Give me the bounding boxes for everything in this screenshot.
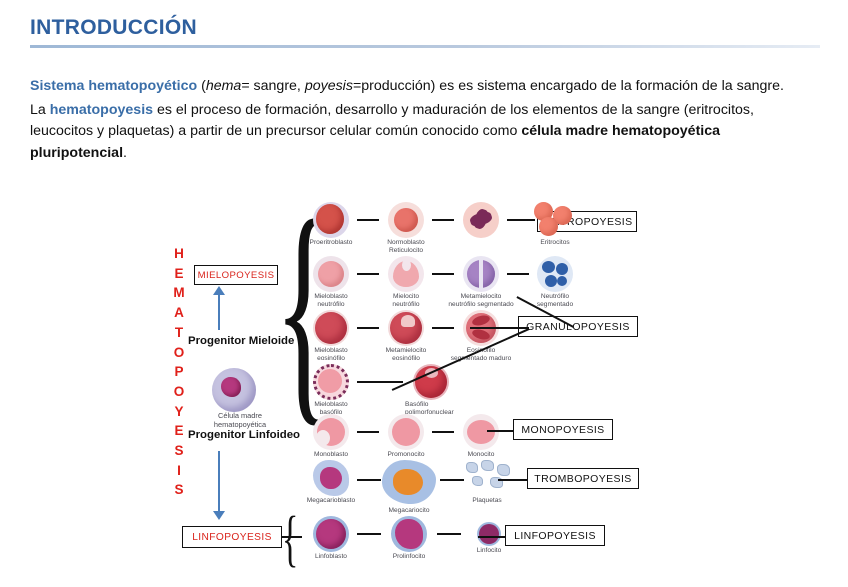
monoblasto-art xyxy=(313,414,349,450)
hematopoyesis-letter-10: S xyxy=(168,441,190,461)
term-hematopoyesis: hematopoyesis xyxy=(50,102,153,118)
promonocito-art xyxy=(388,414,424,450)
hematopoyesis-letter-8: Y xyxy=(168,402,190,422)
p1-text-b: ( xyxy=(197,78,206,94)
cell-label: Mieloblasto neutrófilo xyxy=(300,293,362,309)
arrow-up-shaft xyxy=(218,292,220,330)
cell-prolinfocito: Prolinfocito xyxy=(378,516,440,561)
eritrocitos-art xyxy=(532,202,578,238)
cell-label: Megacarioblasto xyxy=(300,497,362,505)
cell-neutrofilo-segmentado: Neutrófilo segmentado xyxy=(524,256,586,309)
cell-label: Megacariocito xyxy=(378,507,440,515)
arrow-up-icon xyxy=(213,286,225,295)
plaquetas-art xyxy=(464,460,518,496)
connector-to-granulopoyesis xyxy=(470,327,518,329)
mieloblasto-neutrofilo-art xyxy=(313,256,349,292)
p2-text-a: La xyxy=(30,102,50,118)
cell-label: Proeritroblasto xyxy=(300,239,362,247)
arrow-down-shaft xyxy=(218,451,220,513)
cell-normoblasto: Normoblasto Reticulocito xyxy=(375,202,437,255)
cell-mieloblasto-basofilo: Mieloblasto basófilo xyxy=(300,364,362,417)
box-linfopoyesis-left[interactable]: LINFOPOYESIS xyxy=(182,526,282,548)
cell-mieloblasto-neutrofilo: Mieloblasto neutrófilo xyxy=(300,256,362,309)
connector-to-monopoyesis xyxy=(487,430,513,432)
p1-text-c: = sangre, xyxy=(241,78,305,94)
p1-text-d: =producción) es es sistema encargado de … xyxy=(353,78,784,94)
linfoblasto-art xyxy=(313,516,349,552)
title-divider xyxy=(30,45,820,48)
connector xyxy=(357,381,403,383)
megacarioblasto-art xyxy=(313,460,349,496)
neutrofilo-segmentado-art xyxy=(537,256,573,292)
normoblasto-art xyxy=(388,202,424,238)
hematopoyesis-letter-11: I xyxy=(168,461,190,481)
cell-monocito: Monocito xyxy=(450,414,512,459)
cell-plaquetas: Plaquetas xyxy=(460,460,522,505)
hematopoyesis-letter-6: P xyxy=(168,362,190,382)
cell-label: Linfocito xyxy=(458,547,520,555)
term-poyesis: poyesis xyxy=(305,78,353,94)
intro-body: Sistema hematopoyético (hema= sangre, po… xyxy=(30,76,820,164)
linfocito-art xyxy=(477,522,501,546)
cell-label: Mieloblasto eosinófilo xyxy=(300,347,362,363)
cell-label: Monoblasto xyxy=(300,451,362,459)
paragraph-1: Sistema hematopoyético (hema= sangre, po… xyxy=(30,76,820,98)
cell-label: Monocito xyxy=(450,451,512,459)
cell-megacariocito: Megacariocito xyxy=(378,460,440,515)
cell-promonocito: Promonocito xyxy=(375,414,437,459)
connector-to-trombopoyesis xyxy=(498,479,527,481)
cell-eosinofilo-maduro: Eosinófilo segmentado maduro xyxy=(450,310,512,363)
cell-label: Eritrocitos xyxy=(524,239,586,247)
mieloblasto-eosinofilo-art xyxy=(313,310,349,346)
box-granulopoyesis[interactable]: GRANULOPOYESIS xyxy=(518,316,638,337)
arrow-down-icon xyxy=(213,511,225,520)
box-linfopoyesis-right[interactable]: LINFOPOYESIS xyxy=(505,525,605,546)
basofilo-polimorfonuclear-art xyxy=(413,364,449,400)
term-sistema-hematopoyetico: Sistema hematopoyético xyxy=(30,78,197,94)
box-monopoyesis[interactable]: MONOPOYESIS xyxy=(513,419,613,440)
reticulocito-art xyxy=(463,202,499,238)
metamielocito-eosinofilo-art xyxy=(388,310,424,346)
cell-megacarioblasto: Megacarioblasto xyxy=(300,460,362,505)
cell-metamielocito-eosinofilo: Metamielocito eosinófilo xyxy=(375,310,437,363)
megacariocito-art xyxy=(382,460,436,504)
hematopoyesis-letter-3: A xyxy=(168,303,190,323)
hematopoyesis-letter-2: M xyxy=(168,283,190,303)
proeritroblasto-art xyxy=(313,202,349,238)
mielocito-neutrofilo-art xyxy=(388,256,424,292)
hematopoyesis-letter-12: S xyxy=(168,480,190,500)
cell-eritrocitos: Eritrocitos xyxy=(524,202,586,247)
hematopoyesis-letter-9: E xyxy=(168,421,190,441)
cell-label: Mielocito neutrófilo xyxy=(366,293,446,309)
monocito-art xyxy=(463,414,499,450)
connector-to-eritropoyesis xyxy=(507,219,535,221)
hematopoyesis-letter-7: O xyxy=(168,382,190,402)
cell-proeritroblasto: Proeritroblasto xyxy=(300,202,362,247)
brace-linfoide: { xyxy=(282,508,298,570)
hematopoyesis-diagram: HEMATOPOYESIS Célula madre hematopoyétic… xyxy=(0,196,848,587)
cell-label: Promonocito xyxy=(375,451,437,459)
hematopoyesis-letter-0: H xyxy=(168,244,190,264)
stem-cell-art xyxy=(212,368,256,412)
cell-mieloblasto-eosinofilo: Mieloblasto eosinófilo xyxy=(300,310,362,363)
connector-to-linfopoyesis-right xyxy=(478,536,505,538)
cell-label: Metamielocito neutrófilo segmentado xyxy=(435,293,527,309)
hematopoyesis-letter-4: T xyxy=(168,323,190,343)
cell-label: Prolinfocito xyxy=(378,553,440,561)
mieloblasto-basofilo-art xyxy=(313,364,349,400)
cell-label: Linfoblasto xyxy=(300,553,362,561)
cell-metamielocito-neutrofilo: Metamielocito neutrófilo segmentado xyxy=(450,256,512,309)
term-hema: hema xyxy=(206,78,242,94)
metamielocito-neutrofilo-art xyxy=(463,256,499,292)
box-trombopoyesis[interactable]: TROMBOPOYESIS xyxy=(527,468,639,489)
cell-reticulocito xyxy=(450,202,512,238)
prolinfocito-art xyxy=(391,516,427,552)
paragraph-2: La hematopoyesis es el proceso de formac… xyxy=(30,100,820,165)
cell-label: Plaquetas xyxy=(452,497,522,505)
hematopoyesis-letter-1: E xyxy=(168,264,190,284)
p2-text-e: . xyxy=(123,145,127,161)
cell-mielocito-neutrofilo: Mielocito neutrófilo xyxy=(375,256,437,309)
page-title: INTRODUCCIÓN xyxy=(30,16,820,39)
cell-monoblasto: Monoblasto xyxy=(300,414,362,459)
slide-header: INTRODUCCIÓN xyxy=(30,16,820,48)
cell-linfoblasto: Linfoblasto xyxy=(300,516,362,561)
hematopoyesis-vertical-label: HEMATOPOYESIS xyxy=(168,244,190,500)
cell-label: Normoblasto Reticulocito xyxy=(363,239,449,255)
connector-linfopoyesis-box xyxy=(282,536,302,538)
box-mielopoyesis[interactable]: MIELOPOYESIS xyxy=(194,265,278,285)
hematopoyesis-letter-5: O xyxy=(168,343,190,363)
